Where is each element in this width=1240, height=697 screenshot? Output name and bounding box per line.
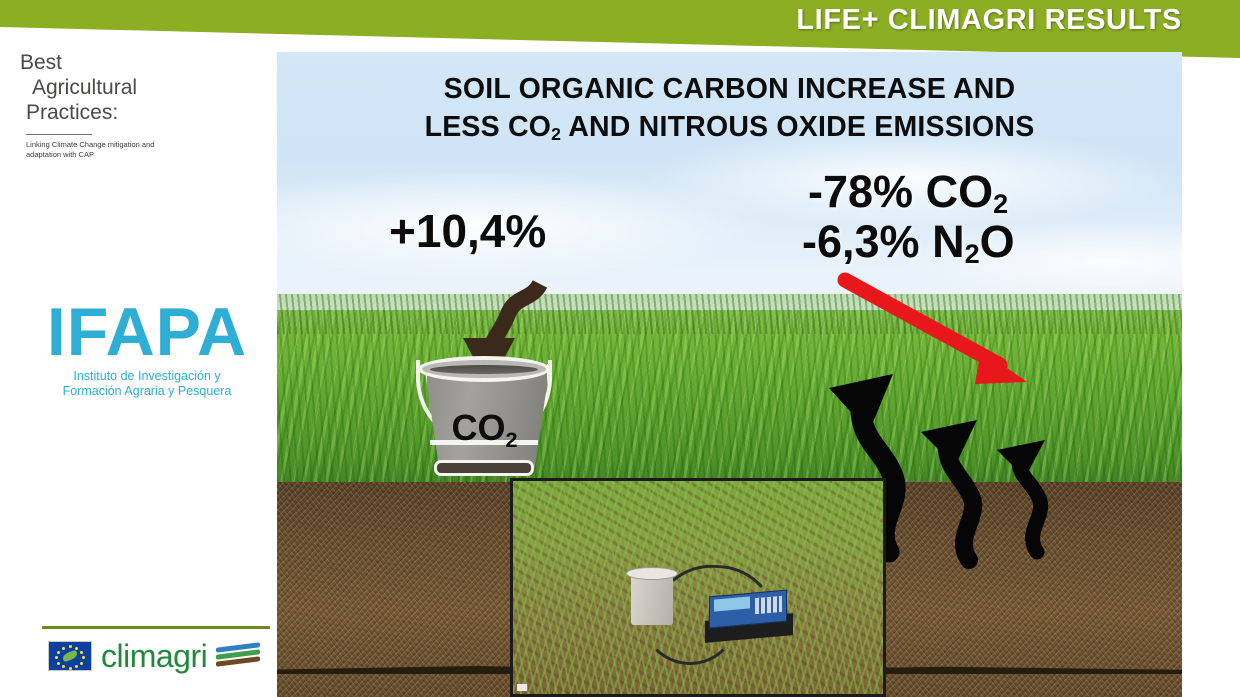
stat-co2-sub: 2 <box>993 189 1008 219</box>
stat-n2o-sub: 2 <box>965 239 980 269</box>
footer-divider <box>42 626 270 629</box>
ifapa-subtitle-line-1: Instituto de Investigación y <box>34 369 260 384</box>
slide-headline: SOIL ORGANIC CARBON INCREASE AND LESS CO… <box>277 70 1182 149</box>
ifapa-subtitle-line-2: Formación Agraria y Pesquera <box>34 384 260 399</box>
page-title: LIFE+ CLIMAGRI RESULTS <box>796 4 1182 37</box>
headline-line-2-pre: LESS CO <box>425 111 552 143</box>
stat-co2-reduction: -78% CO2 <box>808 166 1008 218</box>
headline-line-2: LESS CO2 AND NITROUS OXIDE EMISSIONS <box>277 108 1182 149</box>
stat-n2o-label-pre: N <box>932 216 965 267</box>
stat-co2-value: -78% <box>808 166 913 217</box>
ifapa-acronym: IFAPA <box>34 300 260 364</box>
soil-flux-chamber-photo <box>510 478 886 697</box>
gas-chamber <box>631 573 673 625</box>
inset-corner-marker <box>517 684 527 691</box>
stat-soc-increase: +10,4% <box>389 204 546 258</box>
analyzer-keypad <box>755 596 782 614</box>
bucket-label-main: CO <box>451 407 505 448</box>
bap-subtitle: Linking Climate Change mitigation and ad… <box>20 140 170 159</box>
bap-line-1: Best <box>20 50 170 75</box>
climagri-logo: climagri <box>48 640 260 672</box>
ifapa-logo: IFAPA Instituto de Investigación y Forma… <box>34 300 260 398</box>
bucket-rim <box>418 356 550 382</box>
headline-line-2-sub: 2 <box>551 124 561 144</box>
main-photo-panel: SOIL ORGANIC CARBON INCREASE AND LESS CO… <box>277 52 1182 697</box>
best-agricultural-practices-logo: Best Agricultural Practices: Linking Cli… <box>20 50 170 159</box>
bap-line-3: Practices: <box>20 100 170 125</box>
stat-co2-label: CO <box>926 166 994 217</box>
slide-root: LIFE+ CLIMAGRI RESULTS Best Agricultural… <box>0 0 1240 697</box>
stat-n2o-value: -6,3% <box>802 216 920 267</box>
bap-line-3-text: Practices: <box>26 101 118 124</box>
gas-chamber-lid <box>626 567 678 580</box>
eu-leaf-icon <box>62 650 79 662</box>
stat-n2o-label-post: O <box>980 216 1015 267</box>
headline-line-1: SOIL ORGANIC CARBON INCREASE AND <box>277 70 1182 108</box>
bap-line-2: Agricultural <box>20 75 170 100</box>
climagri-stripes-icon <box>216 643 260 669</box>
climagri-wordmark: climagri <box>101 640 207 672</box>
headline-line-2-post: AND NITROUS OXIDE EMISSIONS <box>561 111 1034 143</box>
bucket-base <box>434 460 534 476</box>
bap-line-1-text: Best <box>20 51 62 74</box>
co2-bucket: CO2 <box>412 342 557 482</box>
bucket-label: CO2 <box>412 410 557 451</box>
bap-divider <box>26 134 92 135</box>
eu-flag-icon <box>48 641 92 671</box>
stat-n2o-reduction: -6,3% N2O <box>802 216 1015 268</box>
bucket-label-sub: 2 <box>505 427 517 452</box>
bap-line-2-text: Agricultural <box>32 76 137 99</box>
ifapa-subtitle: Instituto de Investigación y Formación A… <box>34 369 260 398</box>
